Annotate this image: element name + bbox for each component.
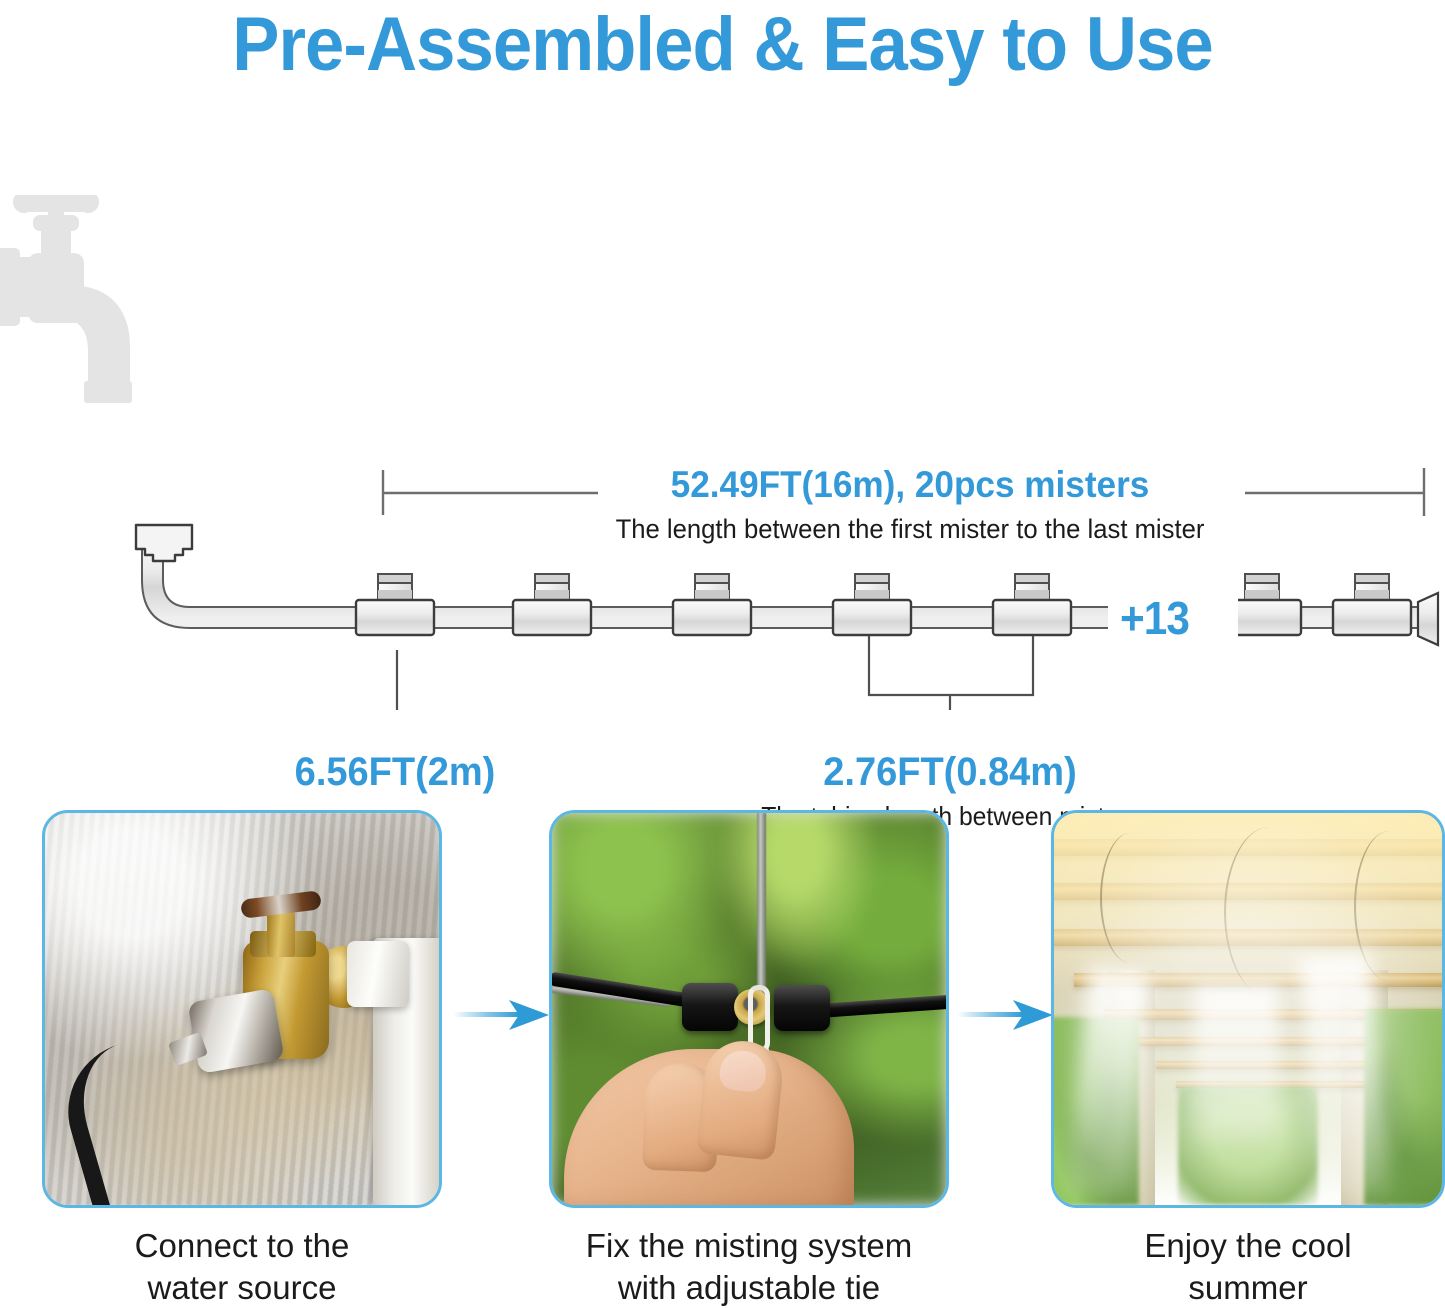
spacing-label: 2.76FT(0.84m) [713, 748, 1188, 796]
step-3-caption-line2: summer [1051, 1267, 1445, 1308]
nozzle-housing-right [774, 985, 830, 1031]
step-3-caption: Enjoy the cool summer [1051, 1225, 1445, 1308]
misting-system-diagram: 52.49FT(16m), 20pcs misters The length b… [0, 150, 1445, 710]
tube-end-cap-icon [1418, 593, 1438, 645]
main-dimension-label: 52.49FT(16m), 20pcs misters [616, 463, 1205, 507]
step-1-caption: Connect to the water source [42, 1225, 442, 1308]
steps-row: Connect to the water source Fix the mist… [0, 810, 1445, 1308]
photo-3-image [1054, 813, 1442, 1205]
chrome-hose-adapter [187, 988, 284, 1074]
photo-pergola-mist [1051, 810, 1445, 1208]
extra-misters-label: +13 [1120, 593, 1189, 643]
arrow-right-icon [957, 995, 1057, 1035]
spacing-bracket [869, 636, 1033, 710]
arrow-right-icon [453, 995, 553, 1035]
lead-length-label: 6.56FT(2m) [191, 748, 600, 796]
white-coupler [347, 941, 409, 1007]
main-dimension-description: The length between the first mister to t… [578, 512, 1243, 546]
step-1-caption-line2: water source [42, 1267, 442, 1308]
photo-1-image [45, 813, 439, 1205]
photo-zip-tie-install [549, 810, 949, 1208]
infographic-page: Pre-Assembled & Easy to Use [0, 0, 1445, 1308]
photo-2-image [552, 813, 946, 1205]
step-1-caption-line1: Connect to the [42, 1225, 442, 1267]
hose-adapter-icon [133, 522, 195, 568]
mist-haze [1054, 813, 1442, 1205]
photo-faucet-connection [42, 810, 442, 1208]
page-title: Pre-Assembled & Easy to Use [51, 2, 1395, 88]
support-wire-vertical [757, 813, 766, 1009]
nozzle-housing-left [682, 983, 738, 1031]
step-2-caption-line2: with adjustable tie [549, 1267, 949, 1308]
mister-nozzle-icon [356, 574, 1411, 635]
step-2-caption-line1: Fix the misting system [549, 1225, 949, 1267]
step-3-caption-line1: Enjoy the cool [1051, 1225, 1445, 1267]
tubing-and-misters-graphic [0, 150, 1445, 710]
step-2-caption: Fix the misting system with adjustable t… [549, 1225, 949, 1308]
brass-stem [267, 911, 295, 957]
